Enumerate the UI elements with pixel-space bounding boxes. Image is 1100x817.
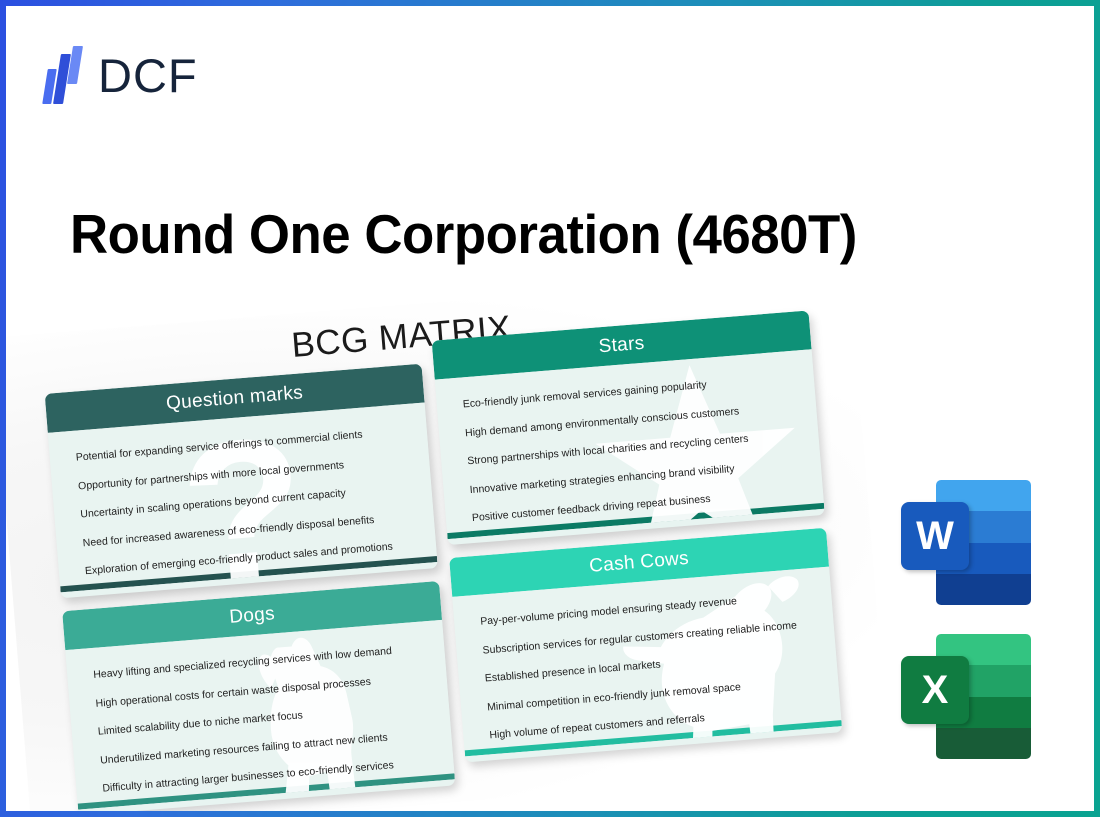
quadrant-body-question-marks: ? Potential for expanding service offeri…: [48, 403, 438, 593]
bcg-matrix-slide: BCG MATRIX Question marks ? Potential fo…: [6, 269, 889, 811]
brand-logo[interactable]: DCF: [44, 46, 198, 104]
dcf-bars-icon: [44, 46, 86, 104]
page-frame: DCF Round One Corporation (4680T) n Mark…: [0, 0, 1100, 817]
quadrant-list-cash-cows: Pay-per-volume pricing model ensuring st…: [452, 567, 841, 743]
excel-badge: X: [901, 656, 969, 724]
quadrant-cash-cows[interactable]: Cash Cows Pay-per-volume pricing model e…: [449, 528, 842, 763]
quadrant-body-stars: Eco-friendly junk removal services gaini…: [435, 349, 825, 539]
page-sheet: DCF Round One Corporation (4680T) n Mark…: [6, 6, 1094, 811]
quadrant-question-marks[interactable]: Question marks ? Potential for expanding…: [45, 364, 438, 599]
microsoft-word-icon[interactable]: W: [901, 480, 1031, 605]
word-badge: W: [901, 502, 969, 570]
quadrant-body-cash-cows: Pay-per-volume pricing model ensuring st…: [452, 567, 842, 757]
page-title: Round One Corporation (4680T): [70, 202, 857, 266]
quadrant-list-dogs: Heavy lifting and specialized recycling …: [65, 620, 454, 796]
quadrant-body-dogs: Heavy lifting and specialized recycling …: [65, 620, 455, 810]
quadrant-list-question-marks: Potential for expanding service offering…: [48, 403, 437, 579]
quadrant-stars[interactable]: Stars Eco-friendly junk removal services…: [432, 310, 825, 545]
brand-name: DCF: [98, 52, 198, 99]
quadrant-list-stars: Eco-friendly junk removal services gaini…: [435, 349, 824, 525]
microsoft-excel-icon[interactable]: X: [901, 634, 1031, 759]
quadrant-dogs[interactable]: Dogs Heavy lifting and specialized recyc…: [62, 581, 455, 811]
